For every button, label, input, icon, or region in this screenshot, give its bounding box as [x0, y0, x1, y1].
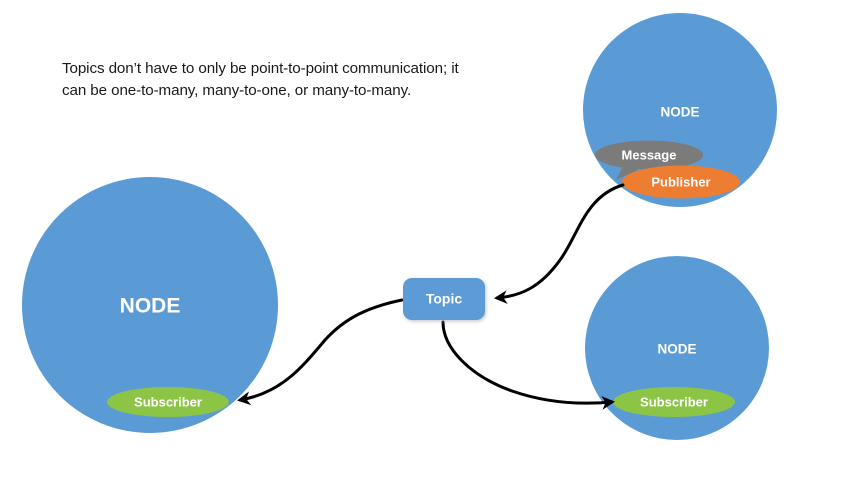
node-bottom-right-label: NODE [657, 342, 696, 357]
node-top-right[interactable]: NODE Message Publisher [583, 13, 777, 207]
node-left-subscriber-label: Subscriber [134, 394, 202, 409]
edge-publisher-to-topic [497, 185, 623, 298]
node-top-right-publisher-label: Publisher [651, 174, 710, 189]
node-top-right-label: NODE [660, 105, 699, 120]
slide-canvas: Topics don’t have to only be point-to-po… [0, 0, 854, 480]
message-label: Message [622, 147, 677, 162]
topic-box-label: Topic [426, 291, 463, 307]
node-bottom-right[interactable]: NODE Subscriber [585, 256, 769, 440]
node-left[interactable]: NODE Subscriber [22, 177, 278, 433]
node-bottom-right-subscriber-label: Subscriber [640, 394, 708, 409]
node-left-label: NODE [120, 295, 181, 318]
topic-box[interactable]: Topic [403, 278, 485, 320]
diagram-canvas: NODE Subscriber NODE Message Publisher N… [0, 0, 854, 480]
